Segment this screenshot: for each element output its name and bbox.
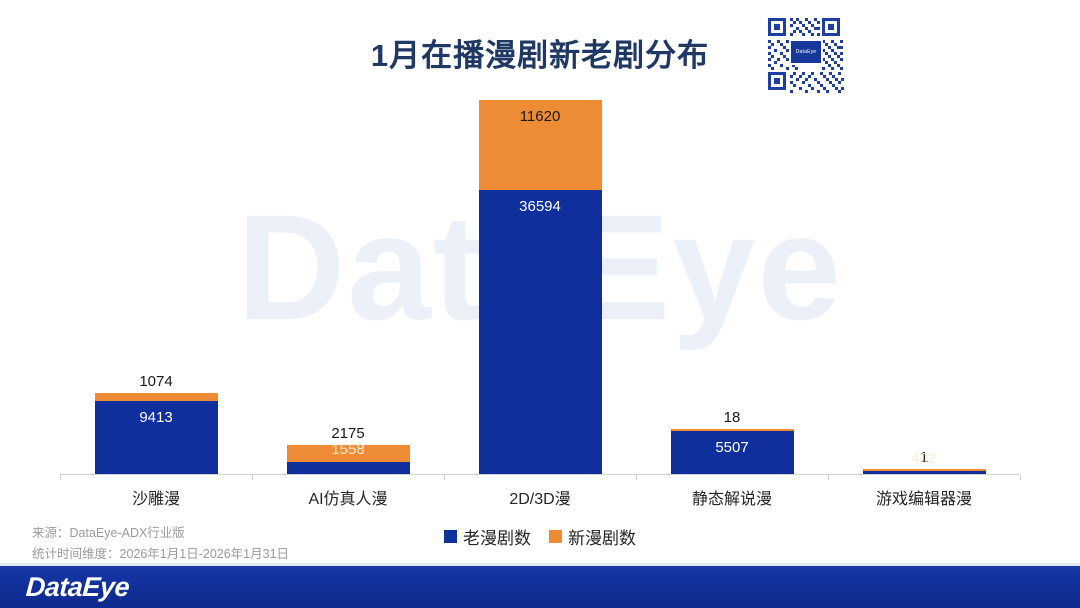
bar-value-label-new: 2175: [287, 426, 410, 441]
category-label: 静态解说漫: [636, 485, 828, 509]
legend-item-new[interactable]: 新漫剧数: [549, 524, 636, 549]
bar-segment-old[interactable]: [863, 471, 986, 474]
category-label: 游戏编辑器漫: [828, 485, 1020, 509]
bar-segment-new[interactable]: 1074: [95, 393, 218, 401]
qr-center-logo: DataEye: [789, 39, 823, 65]
bar-segment-old[interactable]: [287, 462, 410, 474]
x-axis-tick: [828, 475, 829, 480]
qr-code-icon[interactable]: DataEye: [762, 12, 846, 96]
legend-swatch-new: [549, 530, 562, 543]
bar-segment-old[interactable]: 9413: [95, 401, 218, 474]
x-axis-tick: [60, 475, 61, 480]
x-axis-tick: [444, 475, 445, 480]
legend-swatch-old: [444, 530, 457, 543]
bar-value-label-old: 402: [863, 451, 986, 466]
x-axis-line: [60, 474, 1020, 475]
bar-value-label-old: 9413: [95, 410, 218, 425]
chart-legend: 老漫剧数新漫剧数: [0, 524, 1080, 549]
category-labels: 沙雕漫AI仿真人漫2D/3D漫静态解说漫游戏编辑器漫: [60, 485, 1020, 509]
bar-stack[interactable]: 1162036594: [479, 100, 602, 474]
dataeye-logo: DataEye: [25, 572, 130, 603]
category-label: 2D/3D漫: [444, 485, 636, 509]
bar-segment-new[interactable]: 11620: [479, 100, 602, 190]
chart-title: 1月在播漫剧新老剧分布: [0, 30, 1080, 75]
bar-value-label-old: 1558: [287, 442, 410, 457]
bar-stack[interactable]: 21751558: [287, 445, 410, 474]
category-label: AI仿真人漫: [252, 485, 444, 509]
legend-item-old[interactable]: 老漫剧数: [444, 524, 531, 549]
footer-brand-bar: DataEye: [0, 566, 1080, 608]
legend-label-new: 新漫剧数: [568, 524, 636, 549]
chart-page: DataEye 1月在播漫剧新老剧分布: [0, 0, 1080, 608]
bar-value-label-old: 5507: [671, 440, 794, 455]
bar-value-label-new: 11620: [479, 109, 602, 124]
bar-value-label-new: 18: [671, 410, 794, 425]
bar-segment-old[interactable]: 5507: [671, 431, 794, 474]
bar-value-label-new: 1074: [95, 374, 218, 389]
x-axis-tick: [636, 475, 637, 480]
bar-segment-old[interactable]: 36594: [479, 190, 602, 474]
bar-value-label-old: 36594: [479, 199, 602, 214]
bar-stack[interactable]: 10749413: [95, 393, 218, 474]
x-axis-tick: [252, 475, 253, 480]
bar-segment-new[interactable]: 21751558: [287, 445, 410, 462]
bar-stack[interactable]: 1402: [863, 469, 986, 474]
x-axis-tick: [1020, 475, 1021, 480]
category-label: 沙雕漫: [60, 485, 252, 509]
plot-area: 107494132175155811620365941855071402: [60, 100, 1020, 475]
bar-stack[interactable]: 185507: [671, 429, 794, 474]
legend-label-old: 老漫剧数: [463, 524, 531, 549]
